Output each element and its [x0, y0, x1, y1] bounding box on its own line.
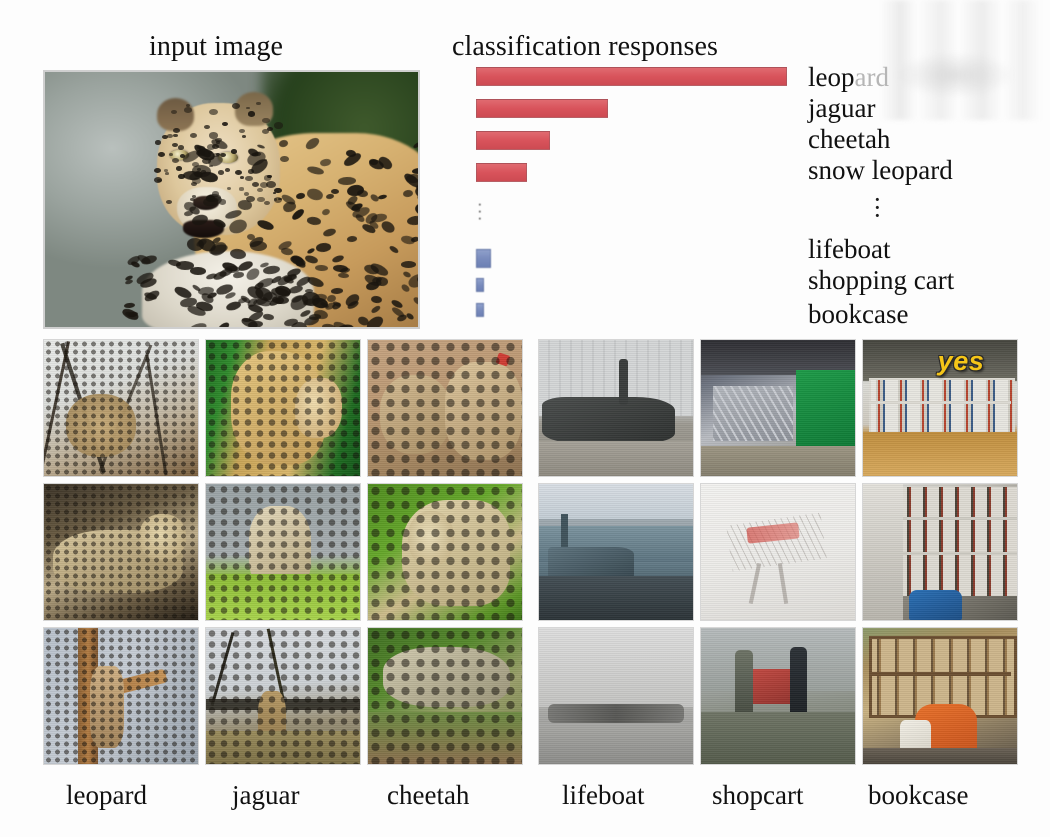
yes-overlay-text: yes [938, 346, 985, 377]
page-title-input-image: input image [149, 31, 283, 63]
cheetah-a [380, 375, 451, 454]
slide-ghost-artifact-2 [895, 52, 1015, 98]
hanging-cat [90, 666, 124, 748]
class-label-snow-leopard: snow leopard [808, 155, 953, 186]
response-bar-lifeboat [476, 249, 491, 268]
grass-band [206, 574, 360, 620]
dock [539, 576, 693, 620]
ground [206, 731, 360, 764]
ground [701, 712, 855, 764]
wood-counter [863, 432, 1017, 476]
water [539, 723, 693, 764]
thumbnail [205, 483, 361, 621]
thumbnail [367, 483, 523, 621]
column-label-jaguar: jaguar [232, 780, 299, 811]
shelf-rail [869, 401, 1011, 404]
retrieval-grid-left [43, 339, 523, 765]
mast [619, 359, 628, 405]
bar-ellipsis-icon: ··· [477, 200, 483, 221]
thumbnail [538, 483, 694, 621]
response-bar-snow-leopard [476, 163, 527, 182]
ground [701, 446, 855, 476]
thumbnail [205, 627, 361, 765]
wall-left [863, 484, 903, 620]
column-label-bookcase: bookcase [868, 780, 968, 811]
floor [863, 748, 1017, 764]
column-label-cheetah: cheetah [387, 780, 469, 811]
response-bar-jaguar [476, 99, 608, 118]
mist [539, 628, 693, 707]
thumbnail [43, 483, 199, 621]
response-bar-shopping-cart [476, 278, 484, 292]
thumbnail [700, 339, 856, 477]
person-right [790, 647, 807, 718]
label-ellipsis-icon: ··· [873, 196, 882, 220]
class-label-bookcase: bookcase [808, 299, 908, 330]
red-cart [747, 669, 790, 704]
page-title-classification-responses: classification responses [452, 31, 718, 63]
column-label-leopard: leopard [66, 780, 147, 811]
thumbnail [538, 627, 694, 765]
thumbnail [367, 627, 523, 765]
person-left [735, 650, 753, 718]
green-container [796, 370, 855, 449]
thumbnail [862, 627, 1018, 765]
blue-chair [909, 590, 961, 620]
class-label-leopard: leopard [808, 62, 889, 93]
scene-detail [869, 672, 1011, 676]
leopard-coat-spots [45, 72, 418, 327]
class-label-shopping-cart: shopping cart [808, 265, 954, 296]
cheetah-lying [383, 647, 509, 707]
column-label-lifeboat: lifeboat [562, 780, 644, 811]
response-bar-leopard [476, 67, 787, 86]
column-label-shopcart: shopcart [712, 780, 803, 811]
class-label-jaguar: jaguar [808, 93, 875, 124]
shelves [869, 378, 1015, 436]
leopard-head [139, 514, 185, 560]
shelves [903, 487, 1017, 596]
thumbnail [43, 627, 199, 765]
scene-detail [903, 517, 1017, 520]
slide-ghost-artifact [880, 0, 1050, 120]
thumbnail: yes [862, 339, 1018, 477]
jaguar-head [295, 378, 341, 438]
response-bar-bookcase [476, 303, 484, 317]
class-label-lifeboat: lifeboat [808, 234, 890, 265]
response-bar-cheetah [476, 131, 550, 150]
scene-detail [903, 552, 1017, 555]
grass-lower [368, 712, 522, 764]
boat-hull [542, 397, 674, 443]
boats [548, 704, 684, 723]
ground [539, 441, 693, 476]
thumbnail [367, 339, 523, 477]
thumbnail [700, 627, 856, 765]
input-image [43, 70, 420, 329]
thumbnail [700, 483, 856, 621]
cheetah-b [445, 362, 522, 460]
ship [548, 547, 634, 580]
thumbnail [43, 339, 199, 477]
thumbnail [538, 339, 694, 477]
cart-pile [713, 386, 793, 440]
leopard-photo [45, 72, 418, 327]
cheetah-face [408, 511, 454, 565]
retrieval-grid-right: yes [538, 339, 1018, 765]
thumbnail [205, 339, 361, 477]
thumbnail [862, 483, 1018, 621]
class-label-cheetah: cheetah [808, 124, 890, 155]
spot-cluster [66, 394, 137, 457]
